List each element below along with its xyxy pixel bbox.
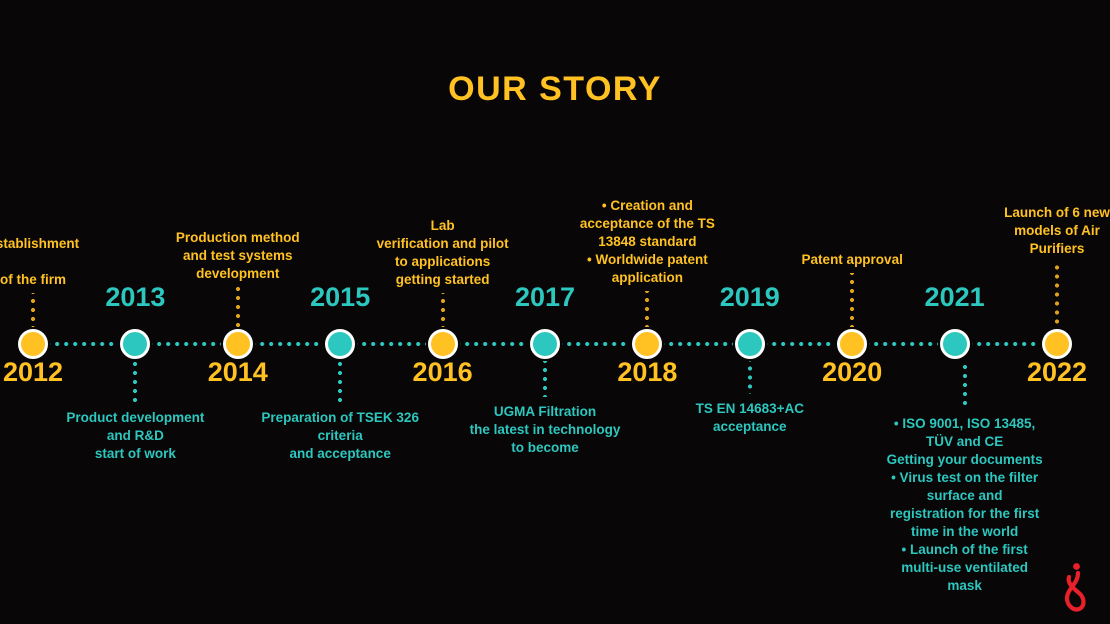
milestone-stem-2019 xyxy=(748,361,752,394)
timeline-connector xyxy=(357,342,425,346)
year-label-2021: 2021 xyxy=(925,282,985,313)
timeline-connector xyxy=(869,342,937,346)
milestone-text-2019: TS EN 14683+AC acceptance xyxy=(677,400,822,436)
milestone-text-2021: • ISO 9001, ISO 13485, TÜV and CE Gettin… xyxy=(867,415,1062,595)
year-label-2018: 2018 xyxy=(617,357,677,388)
milestone-stem-2012 xyxy=(31,293,35,327)
timeline-node-2016[interactable] xyxy=(428,329,458,359)
milestone-text-2014: Production method and test systems devel… xyxy=(150,229,325,283)
timeline-node-2018[interactable] xyxy=(632,329,662,359)
milestone-text-2018: • Creation and acceptance of the TS 1384… xyxy=(560,197,735,287)
milestone-stem-2020 xyxy=(850,273,854,327)
timeline-connector xyxy=(972,342,1040,346)
milestone-text-2020: Patent approval xyxy=(782,251,922,269)
milestone-text-2016: Lab verification and pilot to applicatio… xyxy=(355,217,530,289)
timeline-node-2019[interactable] xyxy=(735,329,765,359)
milestone-stem-2016 xyxy=(441,293,445,327)
milestone-stem-2013 xyxy=(133,361,137,403)
timeline-node-2012[interactable] xyxy=(18,329,48,359)
timeline-connector xyxy=(255,342,323,346)
milestone-stem-2022 xyxy=(1055,262,1059,327)
milestone-text-2022: Launch of 6 new models of Air Purifiers xyxy=(985,204,1110,258)
milestone-text-2017: UGMA Filtration the latest in technology… xyxy=(453,403,638,457)
timeline-node-2017[interactable] xyxy=(530,329,560,359)
year-label-2013: 2013 xyxy=(105,282,165,313)
timeline-node-2020[interactable] xyxy=(837,329,867,359)
timeline-connector xyxy=(152,342,220,346)
company-logo-icon xyxy=(1054,560,1094,616)
milestone-text-2012: Establishment of the firm xyxy=(0,235,103,289)
year-label-2012: 2012 xyxy=(3,357,63,388)
timeline-node-2021[interactable] xyxy=(940,329,970,359)
timeline-connector xyxy=(767,342,835,346)
milestone-text-2013: Product development and R&D start of wor… xyxy=(40,409,230,463)
milestone-stem-2017 xyxy=(543,361,547,397)
timeline-axis: 2012Establishment of the firm2013Product… xyxy=(0,0,1110,624)
year-label-2014: 2014 xyxy=(208,357,268,388)
milestone-stem-2018 xyxy=(645,291,649,327)
timeline-node-2015[interactable] xyxy=(325,329,355,359)
milestone-stem-2015 xyxy=(338,361,342,403)
timeline-connector xyxy=(664,342,732,346)
timeline-node-2013[interactable] xyxy=(120,329,150,359)
milestone-stem-2021 xyxy=(963,361,967,409)
milestone-text-2015: Preparation of TSEK 326 criteria and acc… xyxy=(243,409,438,463)
timeline-connector xyxy=(562,342,630,346)
year-label-2022: 2022 xyxy=(1027,357,1087,388)
timeline-node-2022[interactable] xyxy=(1042,329,1072,359)
timeline-connector xyxy=(50,342,118,346)
timeline-node-2014[interactable] xyxy=(223,329,253,359)
timeline-infographic: OUR STORY 2012Establishment of the firm2… xyxy=(0,0,1110,624)
milestone-stem-2014 xyxy=(236,287,240,327)
year-label-2016: 2016 xyxy=(413,357,473,388)
year-label-2019: 2019 xyxy=(720,282,780,313)
year-label-2020: 2020 xyxy=(822,357,882,388)
timeline-connector xyxy=(460,342,528,346)
